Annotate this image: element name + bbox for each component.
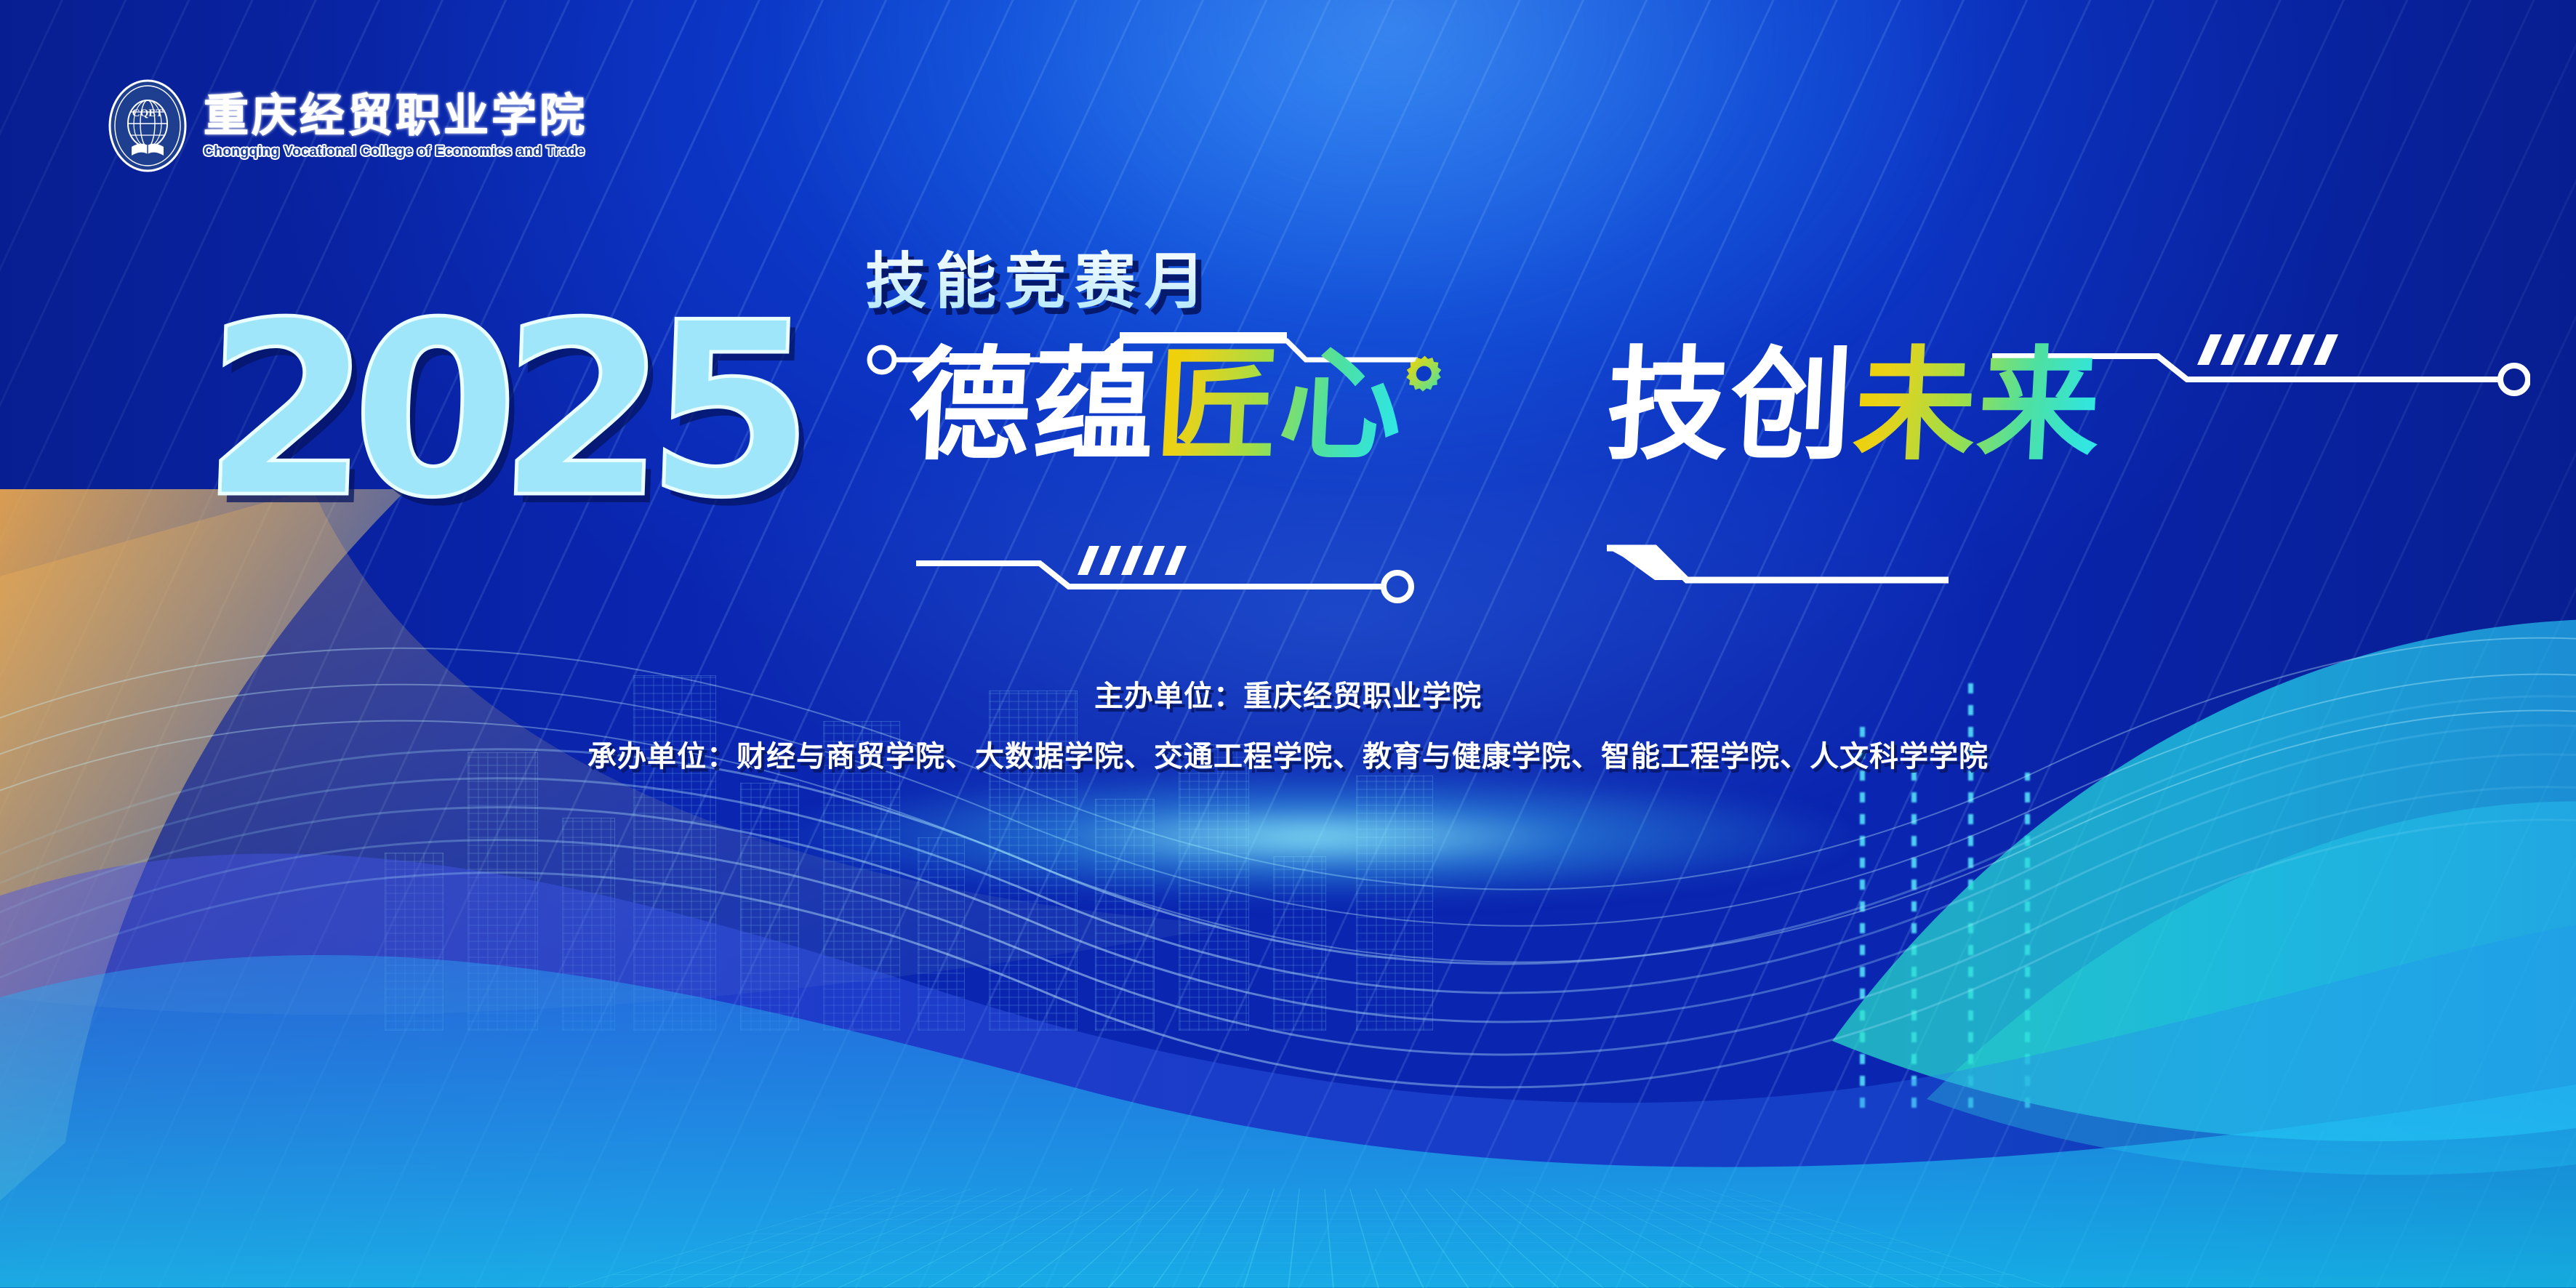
slogan-line-2: 技创 未来 <box>1603 342 2104 470</box>
coorganizer-value: 财经与商贸学院、大数据学院、交通工程学院、教育与健康学院、智能工程学院、人文科学… <box>737 740 1989 773</box>
logo-name-en: Chongqing Vocational College of Economic… <box>204 145 587 158</box>
coorganizer-line: 承办单位：财经与商贸学院、大数据学院、交通工程学院、教育与健康学院、智能工程学院… <box>0 733 2576 775</box>
light-column <box>1911 760 1917 1107</box>
logo-name-cn: 重庆经贸职业学院 <box>204 94 587 139</box>
college-logo: CQET 重庆经贸职业学院 Chongqing Vocational Colle… <box>108 79 587 173</box>
circuit-floor-graphic <box>566 1188 2061 1288</box>
slogan-1-gradient: 匠心 <box>1152 342 1406 470</box>
event-banner: CQET 重庆经贸职业学院 Chongqing Vocational Colle… <box>0 0 2576 1288</box>
horizon-glow <box>773 773 1855 901</box>
slogan-1-white: 德蕴 <box>905 342 1159 470</box>
gear-icon <box>1403 353 1445 394</box>
subtitle-skill-competition-month: 技能竞赛月 <box>865 233 1214 321</box>
coorganizer-label: 承办单位： <box>587 740 737 773</box>
year-2025-graphic: 2025 <box>199 291 800 531</box>
light-column <box>2025 773 2030 1108</box>
slogan-line-1: 德蕴 匠心 <box>905 342 1406 470</box>
host-label: 主办单位： <box>1094 680 1243 713</box>
logo-emblem-icon: CQET <box>108 79 188 173</box>
host-value: 重庆经贸职业学院 <box>1243 680 1482 713</box>
background-right-vignette <box>1906 0 2576 1288</box>
light-column <box>1860 721 1865 1108</box>
slogan-2-white: 技创 <box>1603 342 1857 470</box>
host-organization-line: 主办单位：重庆经贸职业学院 <box>0 672 2576 715</box>
slogan-2-gradient: 未来 <box>1850 342 2104 470</box>
emblem-abbr-text: CQET <box>132 108 164 119</box>
